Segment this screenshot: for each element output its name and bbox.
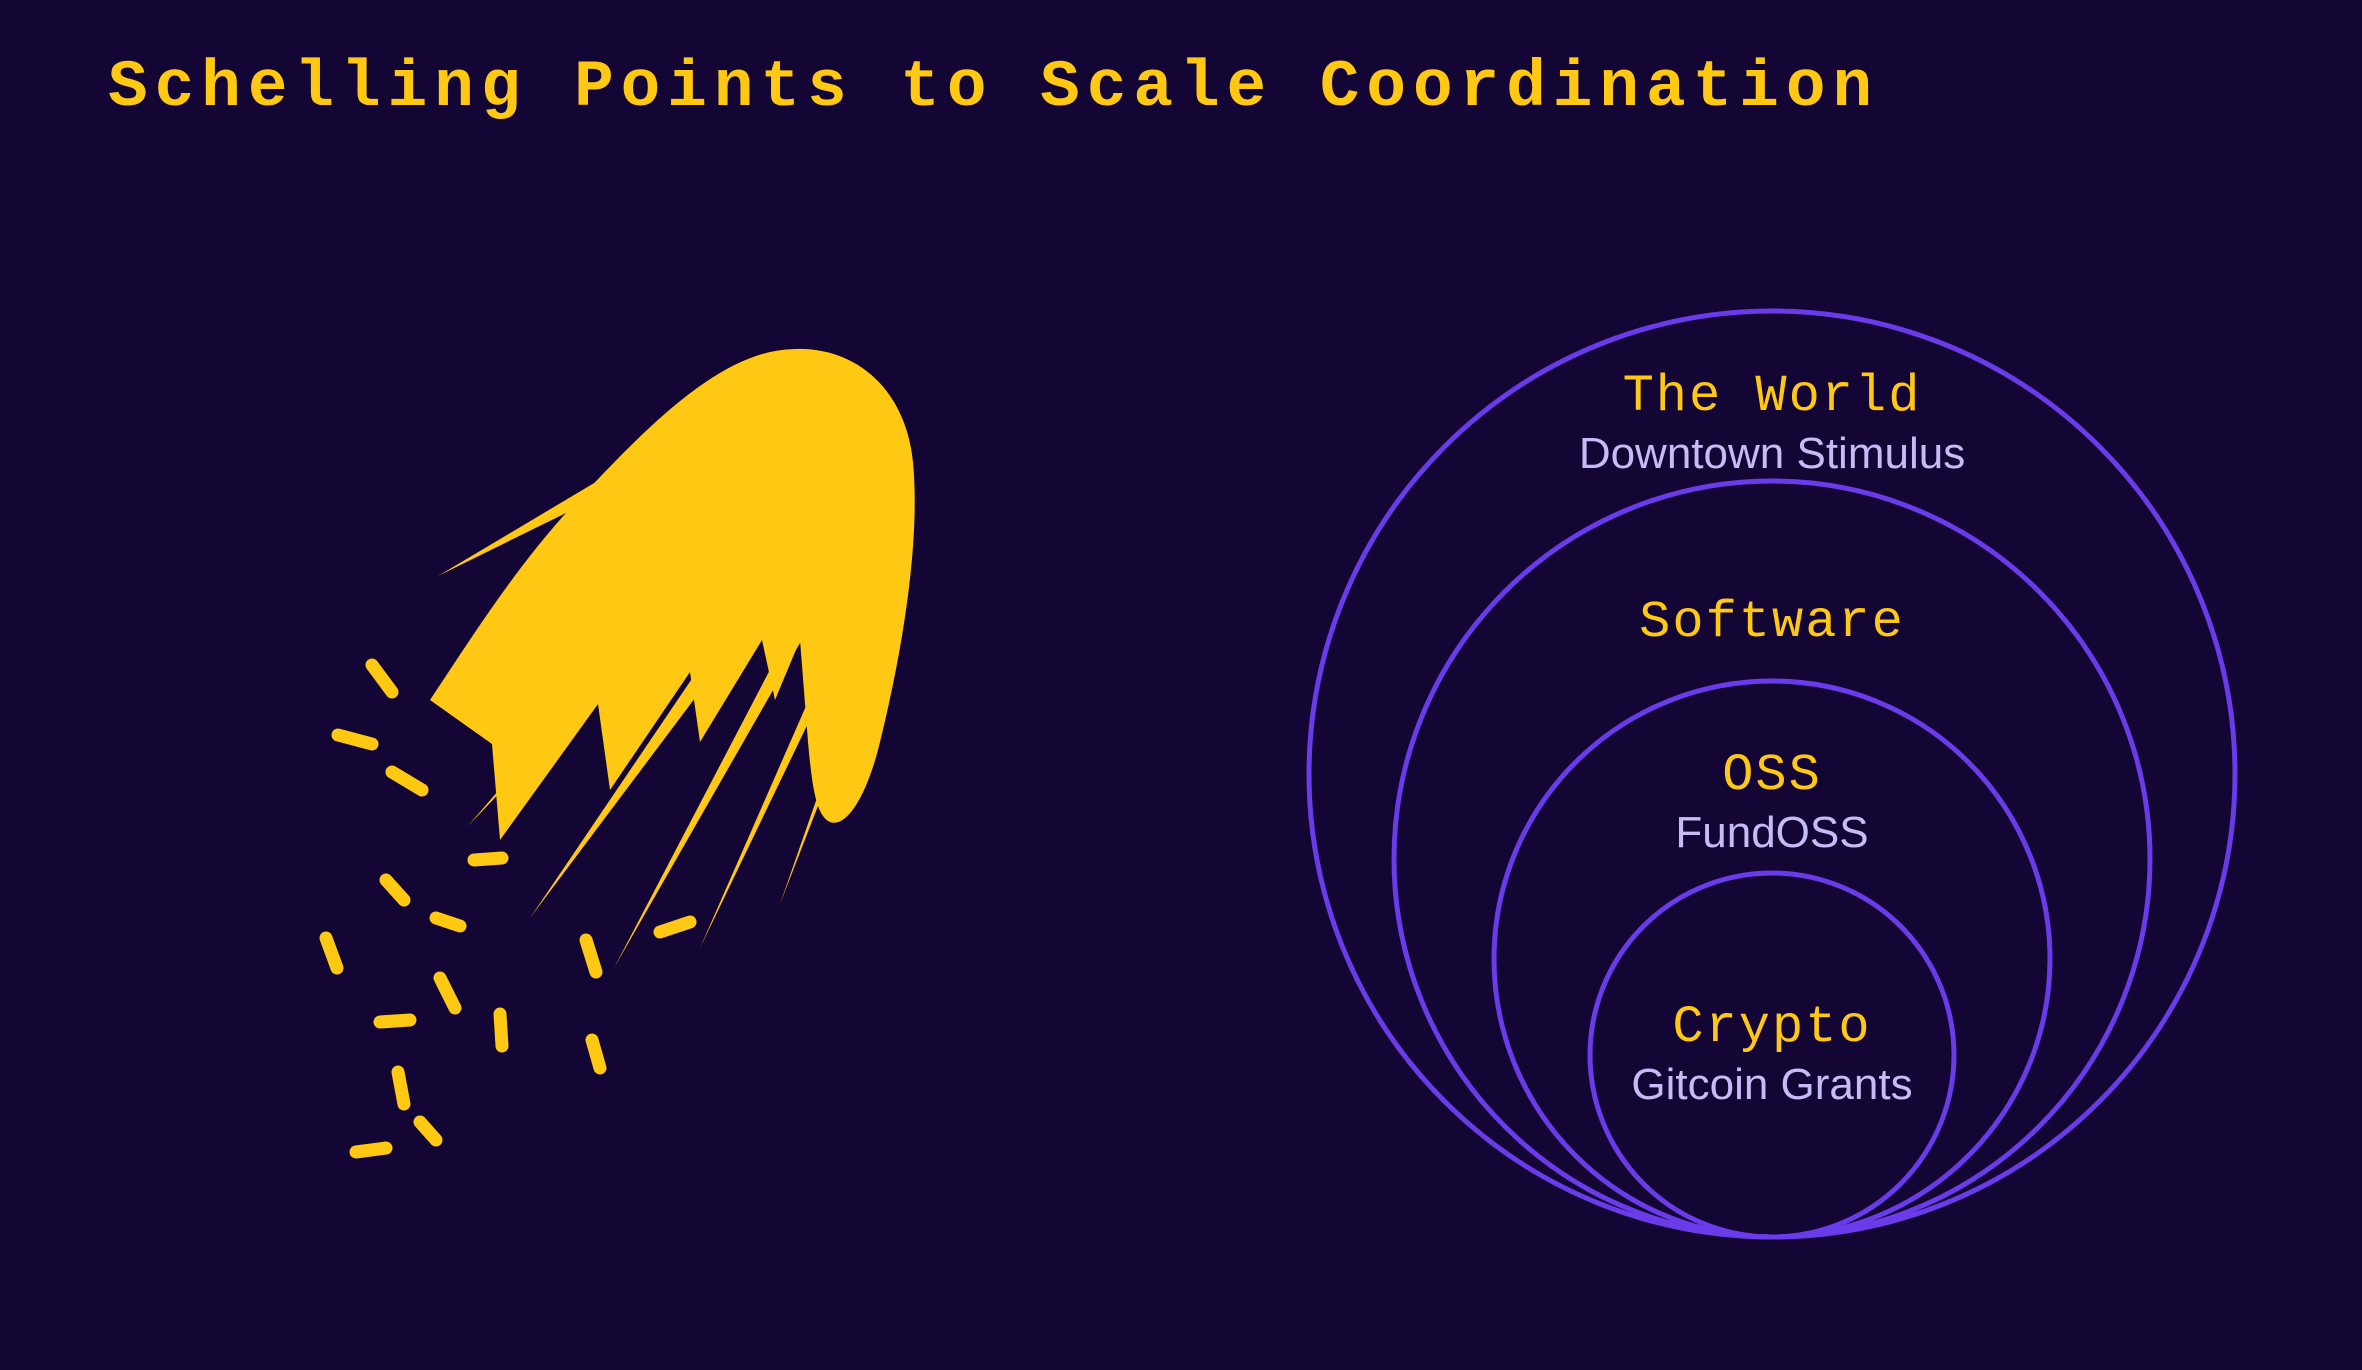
particle-dash: [356, 1148, 386, 1152]
particle-dash: [380, 1020, 410, 1022]
particle-dash: [372, 665, 392, 692]
particle-dash: [326, 938, 337, 968]
slide-artwork: The World Downtown Stimulus Software OSS…: [0, 0, 2362, 1370]
comet-illustration: [326, 349, 915, 1152]
particle-dash: [436, 918, 460, 926]
ring-title-crypto: Crypto: [1672, 998, 1871, 1057]
slide-canvas: Schelling Points to Scale Coordination: [0, 0, 2362, 1370]
ring-label-world: The World Downtown Stimulus: [1579, 367, 1965, 478]
ring-title-world: The World: [1623, 367, 1922, 426]
particle-dash: [500, 1014, 502, 1046]
particle-dash: [420, 1122, 436, 1140]
ring-sublabel-crypto: Gitcoin Grants: [1631, 1060, 1912, 1109]
particle-dash: [440, 978, 455, 1008]
particle-dash: [586, 940, 596, 972]
ring-sublabel-world: Downtown Stimulus: [1579, 429, 1965, 478]
ring-title-oss: OSS: [1722, 746, 1822, 805]
particle-dash: [474, 858, 502, 860]
particle-dash: [392, 772, 422, 790]
ring-label-oss: OSS FundOSS: [1675, 746, 1868, 857]
particle-dash: [592, 1040, 600, 1068]
ring-label-software: Software: [1639, 593, 1905, 652]
particle-dash: [660, 922, 690, 932]
particle-dash: [338, 735, 372, 744]
ring-label-crypto: Crypto Gitcoin Grants: [1631, 998, 1912, 1109]
ring-sublabel-oss: FundOSS: [1675, 808, 1868, 857]
ring-labels: The World Downtown Stimulus Software OSS…: [1579, 367, 1965, 1109]
ring-title-software: Software: [1639, 593, 1905, 652]
particle-dash: [398, 1072, 404, 1104]
particle-dash: [386, 880, 404, 900]
